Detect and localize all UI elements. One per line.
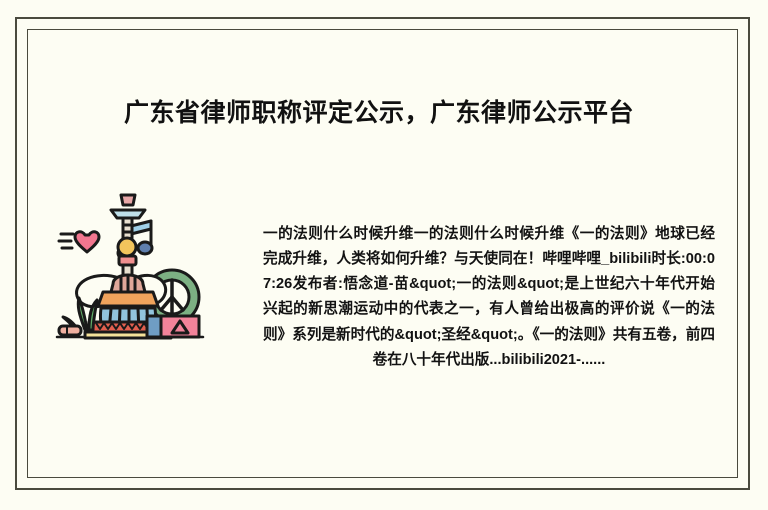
hookah-illustration <box>55 190 205 342</box>
page-root: 广东省律师职称评定公示，广东律师公示平台 <box>0 0 768 510</box>
page-title: 广东省律师职称评定公示，广东律师公示平台 <box>124 93 634 129</box>
page-content: 广东省律师职称评定公示，广东律师公示平台 <box>0 0 768 510</box>
heart-icon <box>59 232 99 252</box>
article-body-text: 一的法则什么时候升维一的法则什么时候升维《一的法则》地球已经完成升维，人类将如何… <box>263 222 715 374</box>
